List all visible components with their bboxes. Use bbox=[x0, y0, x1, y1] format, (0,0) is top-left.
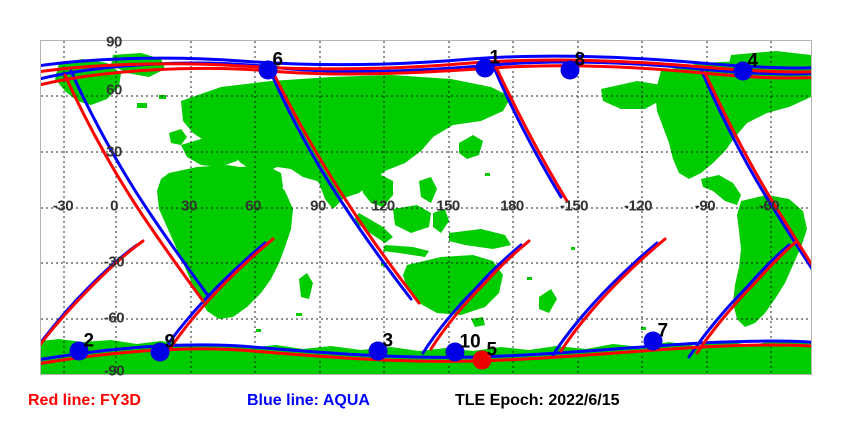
lon-tick-0: 0 bbox=[110, 198, 118, 215]
land-island-a bbox=[571, 247, 575, 250]
satellite-marker-label: 2 bbox=[84, 331, 95, 353]
lon-tick--90: -90 bbox=[695, 198, 715, 215]
lat-tick--90: -90 bbox=[104, 363, 124, 380]
lon-tick--120: -120 bbox=[624, 198, 652, 215]
satellite-marker-8[interactable]: 8 bbox=[561, 61, 580, 80]
satellite-marker-7[interactable]: 7 bbox=[644, 332, 663, 351]
satellite-marker-label: 9 bbox=[165, 332, 176, 354]
land-island-e bbox=[256, 329, 261, 332]
satellite-marker-9[interactable]: 9 bbox=[151, 343, 170, 362]
lon-tick-180: 180 bbox=[500, 198, 524, 215]
lat-tick-30: 30 bbox=[106, 144, 122, 161]
lon-tick-60: 60 bbox=[245, 198, 261, 215]
legend-red-line: Red line: FY3D bbox=[28, 392, 141, 410]
satellite-marker-label: 4 bbox=[748, 51, 759, 73]
satellite-marker-label: 3 bbox=[383, 331, 394, 353]
ground-track-map-page: -30 0 30 60 90 120 150 180 -150 -120 -90… bbox=[0, 0, 850, 425]
lon-tick-30: 30 bbox=[181, 198, 197, 215]
satellite-marker-label: 7 bbox=[658, 321, 669, 343]
satellite-marker-3[interactable]: 3 bbox=[369, 342, 388, 361]
legend-tle-epoch: TLE Epoch: 2022/6/15 bbox=[455, 392, 620, 410]
lon-tick--60: -60 bbox=[759, 198, 779, 215]
satellite-marker-10[interactable]: 10 bbox=[446, 343, 465, 362]
lon-tick-90: 90 bbox=[310, 198, 326, 215]
lat-tick-60: 60 bbox=[106, 82, 122, 99]
legend-blue-line: Blue line: AQUA bbox=[247, 392, 370, 410]
lat-tick-90: 90 bbox=[106, 34, 122, 51]
land-island-b bbox=[527, 277, 532, 280]
lat-tick--60: -60 bbox=[104, 310, 124, 327]
legend-bar: Red line: FY3D Blue line: AQUA TLE Epoch… bbox=[0, 392, 850, 420]
land-island-c bbox=[296, 313, 302, 316]
satellite-marker-6[interactable]: 6 bbox=[259, 61, 278, 80]
lat-tick--30: -30 bbox=[104, 254, 124, 271]
satellite-marker-label: 5 bbox=[487, 340, 498, 362]
satellite-marker-label: 1 bbox=[490, 48, 501, 70]
lon-tick--30: -30 bbox=[53, 198, 73, 215]
lon-tick--150: -150 bbox=[560, 198, 588, 215]
satellite-marker-1[interactable]: 1 bbox=[476, 59, 495, 78]
lon-tick-150: 150 bbox=[436, 198, 460, 215]
land-island-h bbox=[485, 173, 490, 176]
satellite-marker-2[interactable]: 2 bbox=[70, 342, 89, 361]
satellite-marker-label: 6 bbox=[273, 50, 284, 72]
satellite-marker-4[interactable]: 4 bbox=[734, 62, 753, 81]
satellite-marker-label: 8 bbox=[575, 50, 586, 72]
satellite-marker-label: 10 bbox=[460, 332, 481, 354]
lon-tick-120: 120 bbox=[371, 198, 395, 215]
land-island-g bbox=[137, 103, 147, 108]
